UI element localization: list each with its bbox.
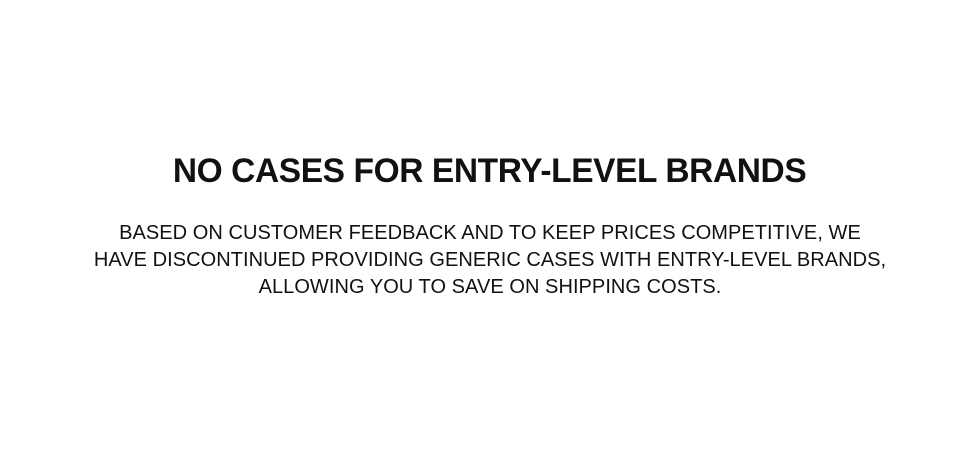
promo-content: No Cases for Entry-Level Brands Based on… [50, 0, 930, 301]
promo-description: Based on customer feedback and to keep p… [90, 190, 890, 301]
promo-heading: No Cases for Entry-Level Brands [173, 152, 806, 190]
promo-banner: No Cases for Entry-Level Brands Based on… [0, 0, 980, 450]
